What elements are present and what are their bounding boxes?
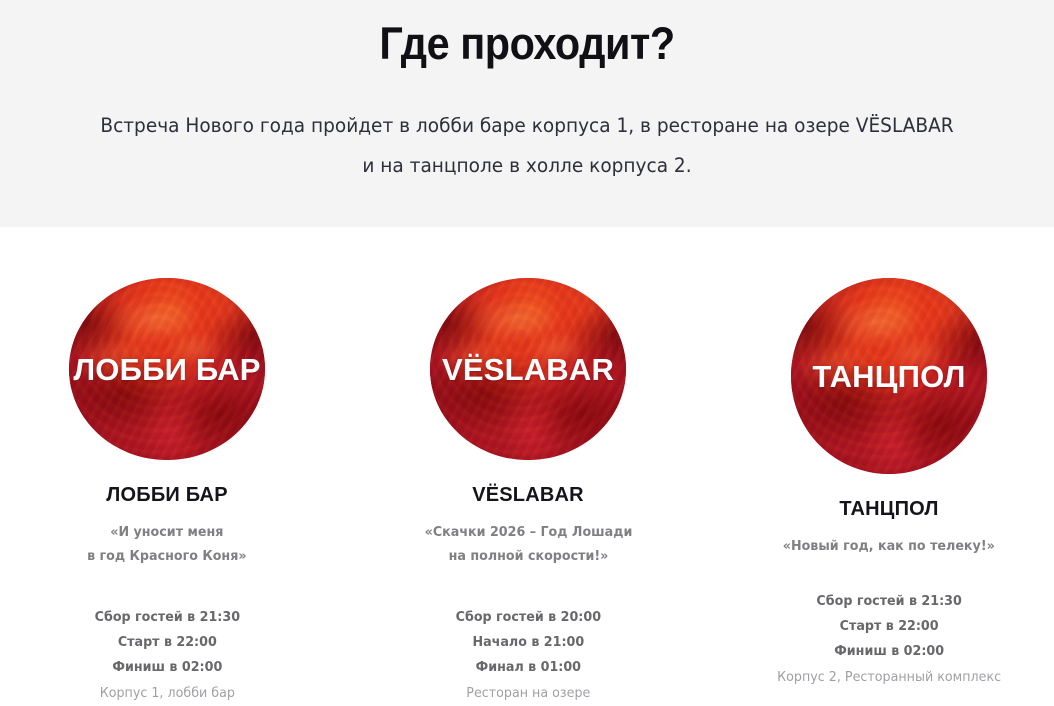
venue-schedule: Сбор гостей в 21:30 Старт в 22:00 Финиш … [770, 589, 1008, 690]
venue-schedule-line: Старт в 22:00 [94, 630, 239, 655]
venue-badge-lobby-bar[interactable]: ЛОББИ БАР [69, 278, 265, 460]
venue-place: Корпус 1, лобби бар [94, 681, 239, 706]
venue-card-list: ЛОББИ БАР ЛОББИ БАР «И уносит меня в год… [0, 227, 1054, 706]
venue-card-veslabar[interactable]: VËSLABAR VËSLABAR «Скачки 2026 – Год Лош… [363, 227, 693, 706]
venue-badge-dancefloor[interactable]: ТАНЦПОЛ [791, 278, 987, 474]
venue-schedule-line: Финиш в 02:00 [777, 639, 1001, 664]
venue-title: ЛОББИ БАР [106, 483, 227, 507]
venue-badge-label: VËSLABAR [442, 354, 614, 385]
venue-quote-line: «И уносит меня [87, 520, 246, 544]
venue-badge-veslabar[interactable]: VËSLABAR [430, 278, 626, 460]
venue-schedule-line: Старт в 22:00 [777, 614, 1001, 639]
venue-place: Ресторан на озере [455, 681, 600, 706]
intro-paragraph-line-2: и на танцполе в холле корпуса 2. [362, 154, 691, 177]
page-title: Где проходит? [42, 0, 1012, 70]
venue-schedule-line: Финиш в 02:00 [94, 655, 239, 680]
venue-schedule-line: Сбор гостей в 20:00 [455, 605, 600, 630]
venue-schedule: Сбор гостей в 20:00 Начало в 21:00 Финал… [451, 605, 606, 706]
venue-schedule-line: Сбор гостей в 21:30 [94, 605, 239, 630]
intro-paragraph-line-1: Встреча Нового года пройдет в лобби баре… [100, 114, 953, 137]
venue-schedule-line: Сбор гостей в 21:30 [777, 589, 1001, 614]
venue-schedule: Сбор гостей в 21:30 Старт в 22:00 Финиш … [90, 605, 245, 706]
venue-quote-line: «Скачки 2026 – Год Лошади [424, 520, 632, 544]
intro-paragraph: Встреча Нового года пройдет в лобби баре… [26, 70, 1027, 186]
venue-card-lobby-bar[interactable]: ЛОББИ БАР ЛОББИ БАР «И уносит меня в год… [2, 227, 332, 706]
venue-quote-line: «Новый год, как по телеку!» [783, 534, 995, 558]
venue-quote: «И уносит меня в год Красного Коня» [87, 520, 246, 568]
venue-quote: «Новый год, как по телеку!» [783, 534, 995, 558]
venue-quote: «Скачки 2026 – Год Лошади на полной скор… [424, 520, 632, 568]
venue-quote-line: на полной скорости!» [424, 544, 632, 568]
venue-schedule-line: Начало в 21:00 [455, 630, 600, 655]
venue-badge-label: ЛОББИ БАР [73, 354, 260, 385]
venue-title: VËSLABAR [472, 483, 584, 507]
venue-badge-label: ТАНЦПОЛ [812, 361, 965, 392]
venue-title: ТАНЦПОЛ [839, 497, 938, 521]
intro-banner: Где проходит? Встреча Нового года пройде… [0, 0, 1054, 227]
venue-card-dancefloor[interactable]: ТАНЦПОЛ ТАНЦПОЛ «Новый год, как по телек… [724, 227, 1054, 706]
venue-schedule-line: Финал в 01:00 [455, 655, 600, 680]
venue-quote-line: в год Красного Коня» [87, 544, 246, 568]
venue-place: Корпус 2, Ресторанный комплекс [777, 665, 1001, 690]
